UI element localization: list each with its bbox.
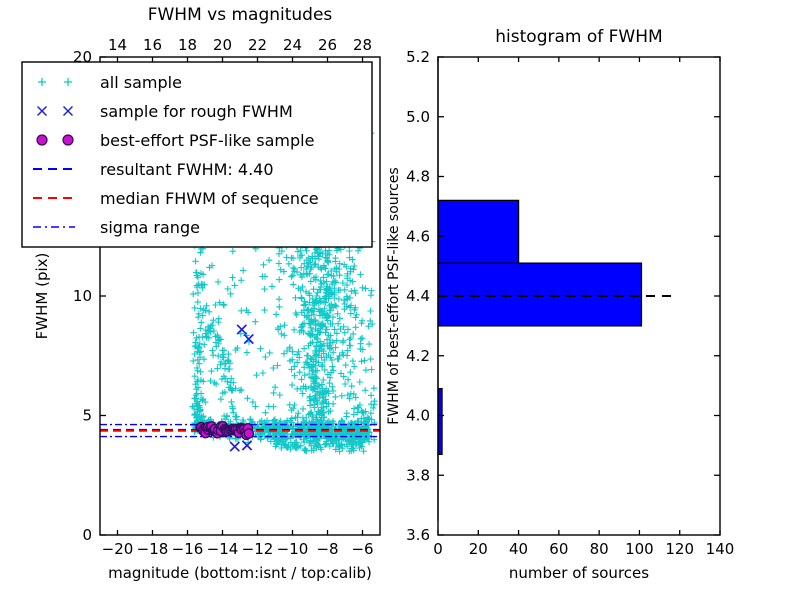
- xtick-label-bottom-4: −12: [242, 540, 274, 558]
- xtick-label-bottom-3: −14: [207, 540, 239, 558]
- right-plot-xlabel: number of sources: [509, 564, 649, 582]
- xtick-label-bottom-5: −10: [277, 540, 309, 558]
- xtick-label-top-0: 14: [108, 36, 127, 54]
- figure-canvas: −20−18−16−14−12−10−8−6141618202224262805…: [0, 0, 800, 600]
- xtick-label-bottom-0: −20: [102, 540, 134, 558]
- xtick-label-bottom-7: −6: [351, 540, 373, 558]
- xtick-label-bottom-2: −16: [172, 540, 204, 558]
- right-ytick-label-3: 4.2: [406, 347, 430, 365]
- right-plot-ylabel: FWHM of best-effort PSF-like sources: [386, 167, 402, 424]
- right-xtick-label-6: 120: [665, 540, 694, 558]
- right-ytick-label-5: 4.6: [406, 227, 430, 245]
- right-xtick-label-1: 20: [469, 540, 488, 558]
- right-xtick-label-5: 100: [625, 540, 654, 558]
- xtick-label-top-6: 26: [318, 36, 337, 54]
- xtick-label-top-3: 20: [213, 36, 232, 54]
- right-xtick-label-4: 80: [590, 540, 609, 558]
- legend-label-4: median FHWM of sequence: [100, 189, 319, 208]
- right-ytick-label-7: 5.0: [406, 108, 430, 126]
- right-ytick-label-1: 3.8: [406, 466, 430, 484]
- xtick-label-top-4: 22: [248, 36, 267, 54]
- right-panel-histogram: 0204060801001201403.63.84.04.24.44.64.85…: [386, 27, 734, 582]
- left-plot-ylabel: FWHM (pix): [33, 253, 51, 340]
- right-xtick-label-0: 0: [433, 540, 443, 558]
- ytick-label-left-0: 0: [82, 526, 92, 544]
- xtick-label-bottom-1: −18: [137, 540, 169, 558]
- xtick-label-bottom-6: −8: [316, 540, 338, 558]
- legend-label-3: resultant FWHM: 4.40: [100, 160, 274, 179]
- legend-box: all samplesample for rough FWHMbest-effo…: [22, 62, 372, 247]
- matplotlib-figure: −20−18−16−14−12−10−8−6141618202224262805…: [0, 0, 800, 600]
- right-ytick-label-0: 3.6: [406, 526, 430, 544]
- right-xtick-label-2: 40: [509, 540, 528, 558]
- right-ytick-label-2: 4.0: [406, 407, 430, 425]
- legend-label-2: best-effort PSF-like sample: [100, 131, 314, 150]
- left-plot-xlabel: magnitude (bottom:isnt / top:calib): [108, 564, 372, 582]
- legend-marker-circle-icon: [63, 135, 73, 145]
- legend-label-0: all sample: [100, 73, 182, 92]
- xtick-label-top-1: 16: [143, 36, 162, 54]
- right-ytick-label-4: 4.4: [406, 287, 430, 305]
- right-xtick-label-3: 60: [549, 540, 568, 558]
- histogram-bar-3: [438, 263, 641, 326]
- right-ytick-label-8: 5.2: [406, 48, 430, 66]
- xtick-label-top-7: 28: [353, 36, 372, 54]
- ytick-label-left-2: 10: [73, 287, 92, 305]
- xtick-label-top-5: 24: [283, 36, 302, 54]
- legend-marker-circle-icon: [37, 135, 47, 145]
- left-plot-title: FWHM vs magnitudes: [148, 5, 333, 25]
- right-ytick-label-6: 4.8: [406, 168, 430, 186]
- ytick-label-left-1: 5: [82, 407, 92, 425]
- right-xtick-label-7: 140: [706, 540, 735, 558]
- legend-label-1: sample for rough FWHM: [100, 102, 293, 121]
- histogram-bar-4: [438, 200, 519, 263]
- psf-sample-marker-circle: [244, 429, 253, 438]
- right-plot-title: histogram of FWHM: [495, 27, 662, 47]
- legend-label-5: sigma range: [100, 218, 200, 237]
- xtick-label-top-2: 18: [178, 36, 197, 54]
